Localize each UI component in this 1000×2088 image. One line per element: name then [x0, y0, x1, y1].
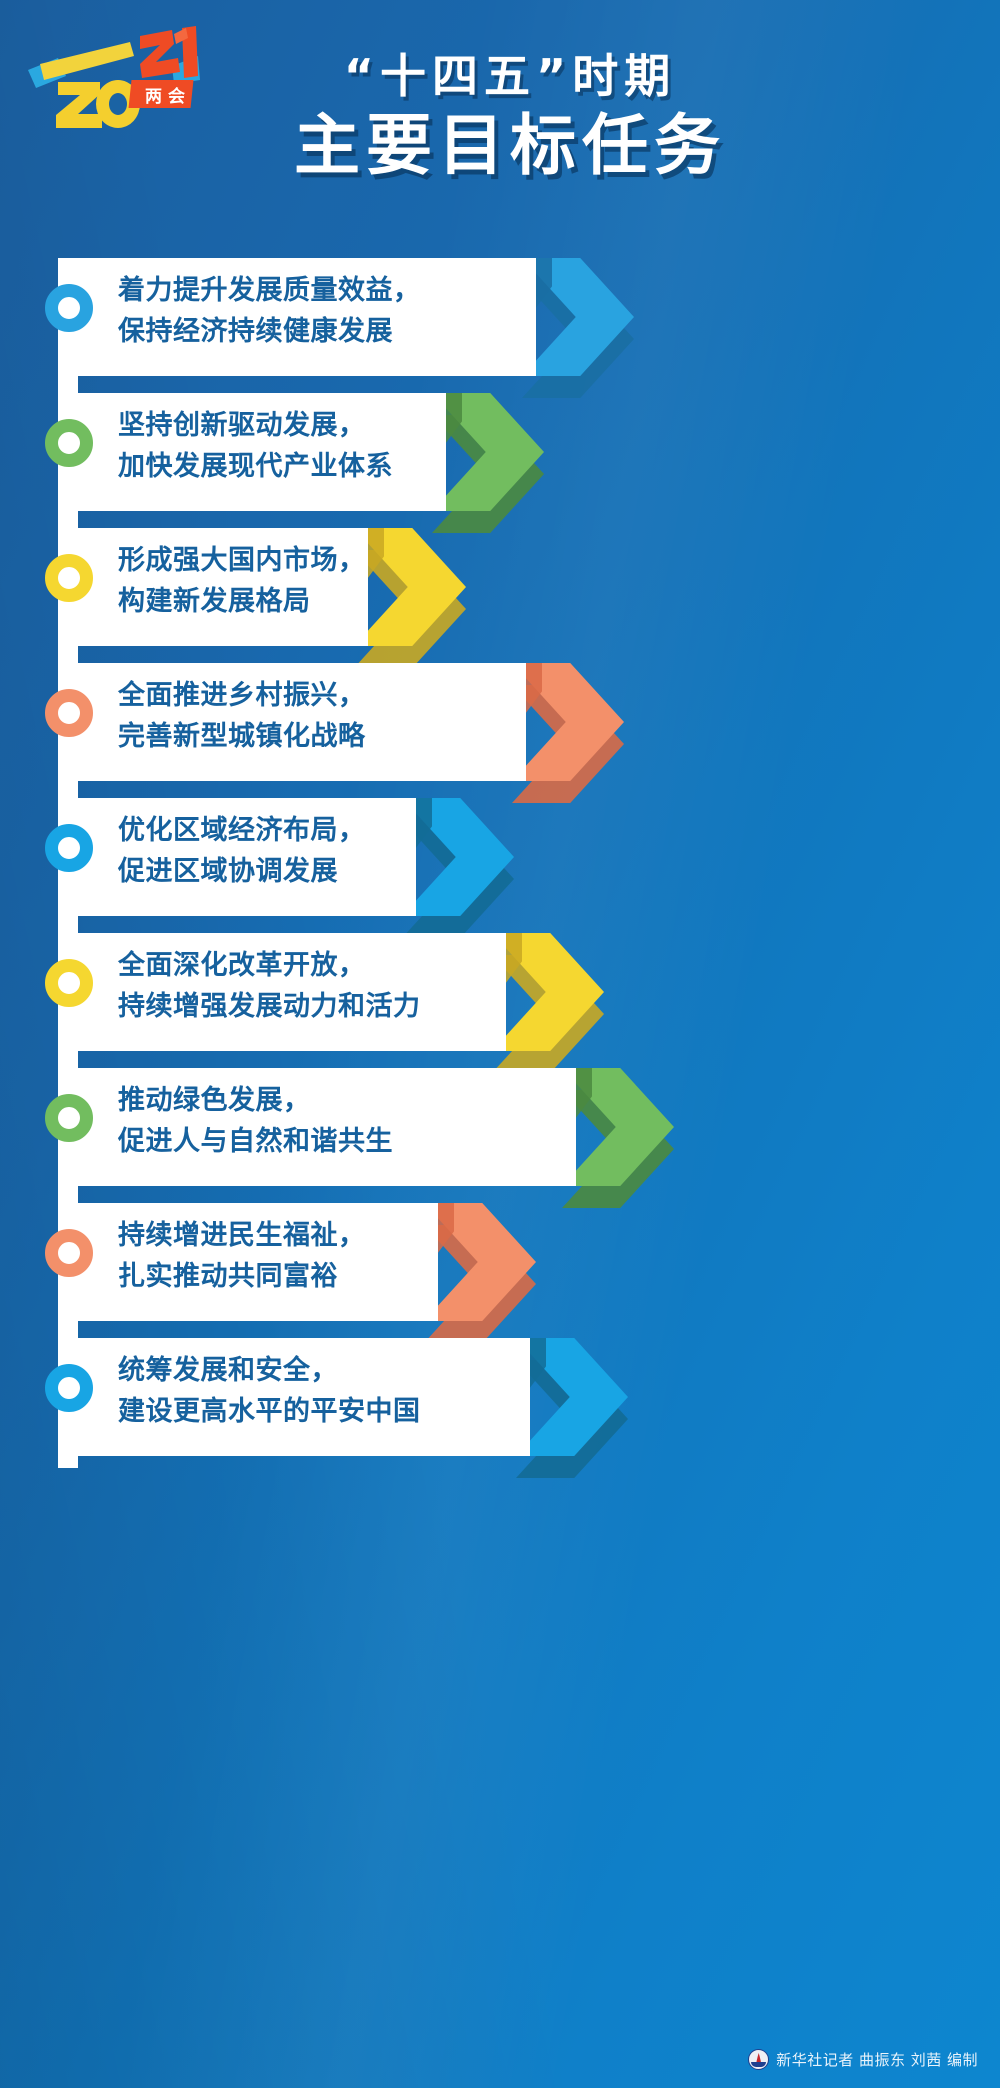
goal-text-line-1: 形成强大国内市场，: [118, 540, 366, 581]
goal-text-line-1: 着力提升发展质量效益，: [118, 270, 421, 311]
goal-text-line-1: 推动绿色发展，: [118, 1080, 393, 1121]
goal-bullet-ring: [45, 689, 93, 737]
goal-text-line-1: 优化区域经济布局，: [118, 810, 366, 851]
goal-text: 坚持创新驱动发展， 加快发展现代产业体系: [118, 405, 393, 487]
goal-row: 持续增进民生福祉， 扎实推动共同富裕: [0, 1203, 1000, 1338]
footer-credit: 新华社记者 曲振东 刘茜 编制: [748, 2049, 978, 2070]
goal-text-line-1: 统筹发展和安全，: [118, 1350, 421, 1391]
goal-bullet-ring: [45, 959, 93, 1007]
goal-text: 统筹发展和安全， 建设更高水平的平安中国: [118, 1350, 421, 1432]
goal-text: 持续增进民生福祉， 扎实推动共同富裕: [118, 1215, 366, 1297]
goal-row: 优化区域经济布局， 促进区域协调发展: [0, 798, 1000, 933]
goals-list: 着力提升发展质量效益， 保持经济持续健康发展 坚持创新驱动发展， 加快发展现代产…: [0, 258, 1000, 1473]
goal-text: 全面推进乡村振兴， 完善新型城镇化战略: [118, 675, 366, 757]
goal-bullet-ring: [45, 1364, 93, 1412]
goal-row: 全面深化改革开放， 持续增强发展动力和活力: [0, 933, 1000, 1068]
goal-bullet-ring: [45, 1229, 93, 1277]
goal-bullet-ring: [45, 824, 93, 872]
title-line-1: “十四五”时期: [190, 50, 830, 103]
goal-row: 推动绿色发展， 促进人与自然和谐共生: [0, 1068, 1000, 1203]
goal-bullet-ring: [45, 284, 93, 332]
goal-row: 统筹发展和安全， 建设更高水平的平安中国: [0, 1338, 1000, 1473]
logo-event-label: 两 会: [145, 86, 185, 107]
header: 两 会 “十四五”时期 主要目标任务: [0, 0, 1000, 240]
goal-text-line-2: 加快发展现代产业体系: [118, 446, 393, 487]
footer-credit-text: 新华社记者 曲振东 刘茜 编制: [776, 2049, 978, 2070]
goal-text: 优化区域经济布局， 促进区域协调发展: [118, 810, 366, 892]
goal-text-line-1: 全面推进乡村振兴，: [118, 675, 366, 716]
goal-text-line-2: 建设更高水平的平安中国: [118, 1391, 421, 1432]
goal-text-line-1: 持续增进民生福祉，: [118, 1215, 366, 1256]
goal-row: 着力提升发展质量效益， 保持经济持续健康发展: [0, 258, 1000, 393]
goal-text-line-2: 促进区域协调发展: [118, 851, 366, 892]
goal-text-line-1: 坚持创新驱动发展，: [118, 405, 393, 446]
goal-row: 形成强大国内市场， 构建新发展格局: [0, 528, 1000, 663]
goal-bullet-ring: [45, 554, 93, 602]
goal-text: 着力提升发展质量效益， 保持经济持续健康发展: [118, 270, 421, 352]
goal-row: 全面推进乡村振兴， 完善新型城镇化战略: [0, 663, 1000, 798]
title-line-2: 主要目标任务: [190, 109, 830, 183]
goal-text: 形成强大国内市场， 构建新发展格局: [118, 540, 366, 622]
goal-bullet-ring: [45, 1094, 93, 1142]
goal-text-line-2: 构建新发展格局: [118, 581, 366, 622]
goal-text-line-2: 持续增强发展动力和活力: [118, 986, 421, 1027]
goal-text-line-2: 保持经济持续健康发展: [118, 311, 421, 352]
goal-bullet-ring: [45, 419, 93, 467]
goal-row: 坚持创新驱动发展， 加快发展现代产业体系: [0, 393, 1000, 528]
goal-text: 推动绿色发展， 促进人与自然和谐共生: [118, 1080, 393, 1162]
goal-text-line-2: 扎实推动共同富裕: [118, 1256, 366, 1297]
goal-text: 全面深化改革开放， 持续增强发展动力和活力: [118, 945, 421, 1027]
goal-text-line-2: 完善新型城镇化战略: [118, 716, 366, 757]
goal-text-line-2: 促进人与自然和谐共生: [118, 1121, 393, 1162]
goal-text-line-1: 全面深化改革开放，: [118, 945, 421, 986]
two-sessions-2021-logo: 两 会: [22, 18, 212, 133]
xinhua-logo-icon: [748, 2049, 769, 2070]
page-title: “十四五”时期 主要目标任务: [190, 50, 830, 183]
